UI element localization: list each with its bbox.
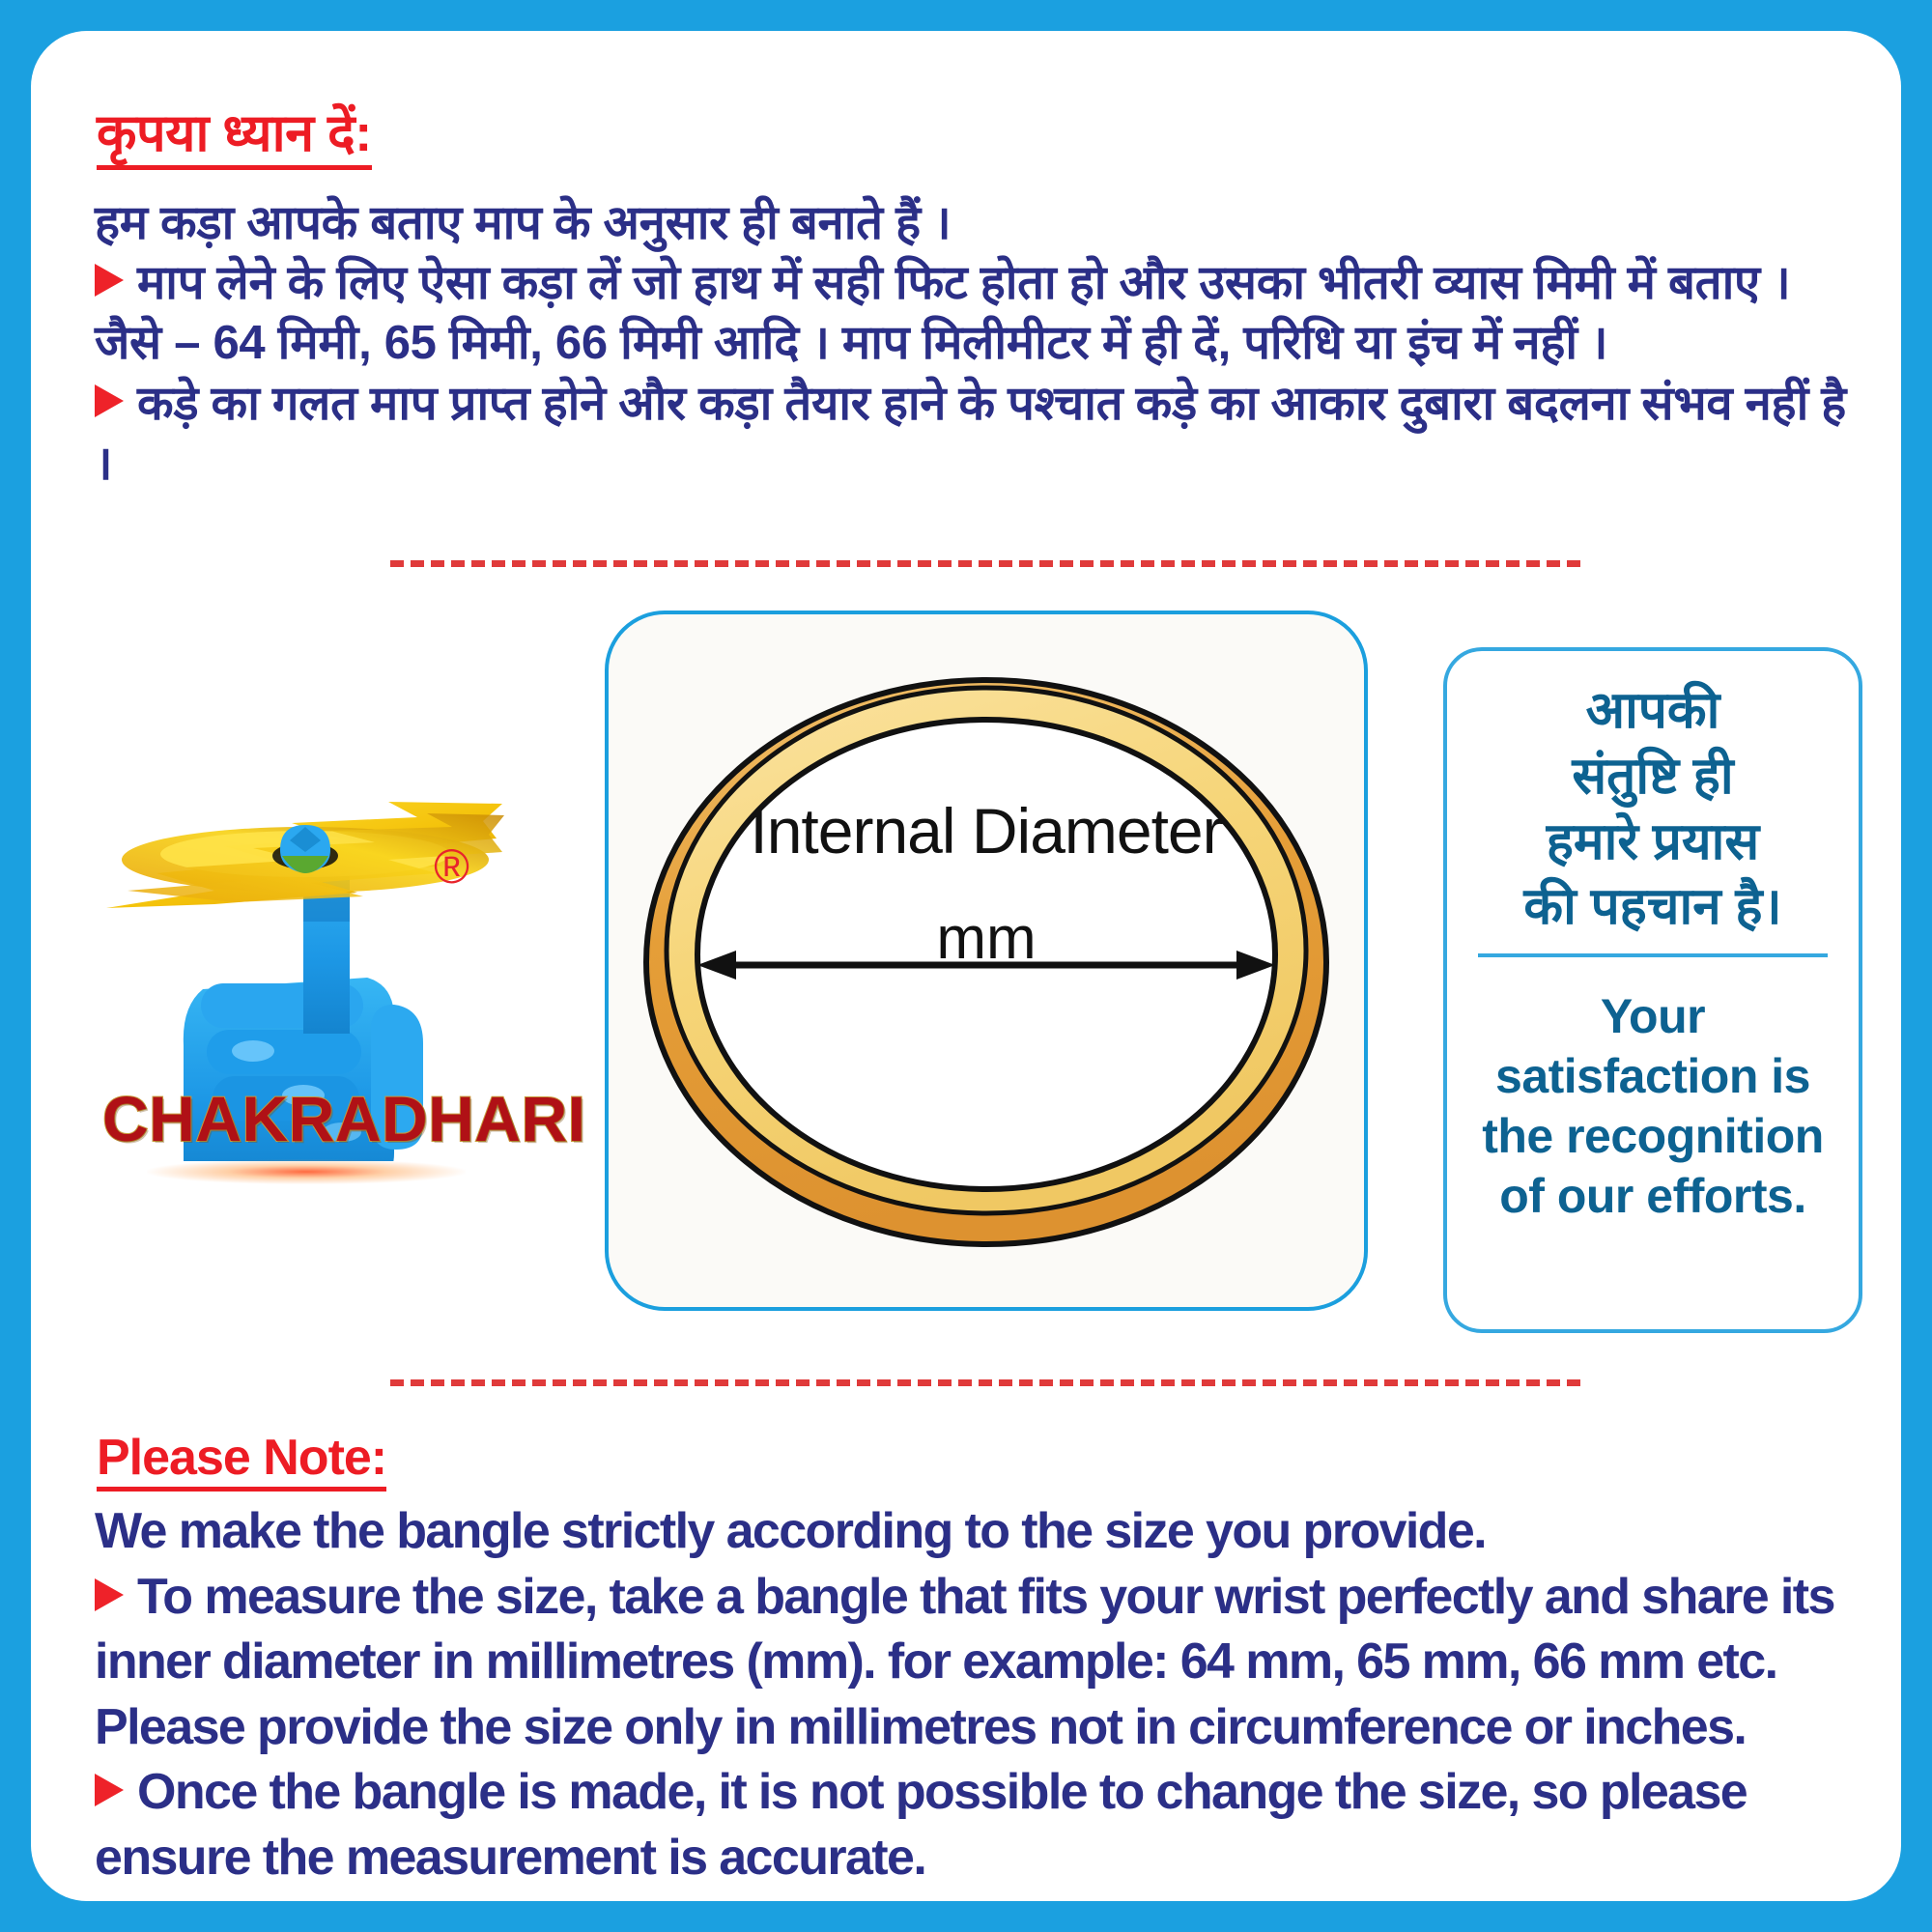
hindi-intro-line: हम कड़ा आपके बताए माप के अनुसार ही बनाते… [95, 193, 1862, 253]
triangle-bullet-icon [95, 1578, 124, 1611]
hindi-bullet-1-row: माप लेने के लिए ऐसा कड़ा लें जो हाथ में … [95, 253, 1862, 373]
english-bullet-1-row: To measure the size, take a bangle that … [95, 1565, 1872, 1761]
poster-root: कृपया ध्यान दें: हम कड़ा आपके बताए माप क… [0, 0, 1932, 1932]
satisfaction-hindi-line-1: आपकी [1457, 678, 1849, 744]
satisfaction-english-line-4: of our efforts. [1457, 1166, 1849, 1226]
hindi-note-body: हम कड़ा आपके बताए माप के अनुसार ही बनाते… [95, 193, 1862, 494]
english-note-body: We make the bangle strictly according to… [95, 1499, 1872, 1891]
fingertip-gem-icon [280, 825, 330, 873]
satisfaction-hindi-line-2: संतुष्टि ही [1457, 744, 1849, 810]
dashed-divider-bottom [390, 1379, 1580, 1386]
white-panel: कृपया ध्यान दें: हम कड़ा आपके बताए माप क… [31, 31, 1901, 1901]
internal-diameter-label: Internal Diameter [609, 794, 1364, 867]
satisfaction-english-line-1: Your [1457, 986, 1849, 1046]
triangle-bullet-icon [95, 1774, 124, 1806]
satisfaction-english-line-2: satisfaction is [1457, 1046, 1849, 1106]
unit-label: mm [609, 904, 1364, 973]
hindi-bullet-2-row: कड़े का गलत माप प्राप्त होने और कड़ा तैय… [95, 374, 1862, 494]
english-bullet-2-text: Once the bangle is made, it is not possi… [95, 1764, 1747, 1886]
dashed-divider-top [390, 560, 1580, 567]
bangle-diagram-card: Internal Diameter mm [605, 611, 1368, 1311]
hindi-bullet-1-text: माप लेने के लिए ऐसा कड़ा लें जो हाथ में … [95, 257, 1790, 369]
english-bullet-1-text: To measure the size, take a bangle that … [95, 1569, 1834, 1755]
english-note-heading: Please Note: [97, 1432, 386, 1492]
satisfaction-hindi-line-4: की पहचान है। [1457, 874, 1849, 940]
satisfaction-english-text: Your satisfaction is the recognition of … [1457, 957, 1849, 1226]
hindi-bullet-2-text: कड़े का गलत माप प्राप्त होने और कड़ा तैय… [95, 378, 1846, 490]
satisfaction-english-line-3: the recognition [1457, 1106, 1849, 1166]
brand-name: CHAKRADHARI [102, 1082, 508, 1155]
satisfaction-hindi-line-3: हमारे प्रयास [1457, 810, 1849, 875]
satisfaction-hindi-text: आपकी संतुष्टि ही हमारे प्रयास की पहचान ह… [1457, 668, 1849, 940]
registered-trademark-icon: ® [434, 842, 469, 891]
triangle-bullet-icon [95, 264, 124, 297]
english-intro-line: We make the bangle strictly according to… [95, 1499, 1872, 1565]
english-bullet-2-row: Once the bangle is made, it is not possi… [95, 1760, 1872, 1890]
brand-glow-decoration [147, 1159, 466, 1184]
triangle-bullet-icon [95, 384, 124, 417]
satisfaction-card: आपकी संतुष्टि ही हमारे प्रयास की पहचान ह… [1443, 647, 1862, 1333]
hindi-note-heading: कृपया ध्यान दें: [97, 106, 372, 170]
